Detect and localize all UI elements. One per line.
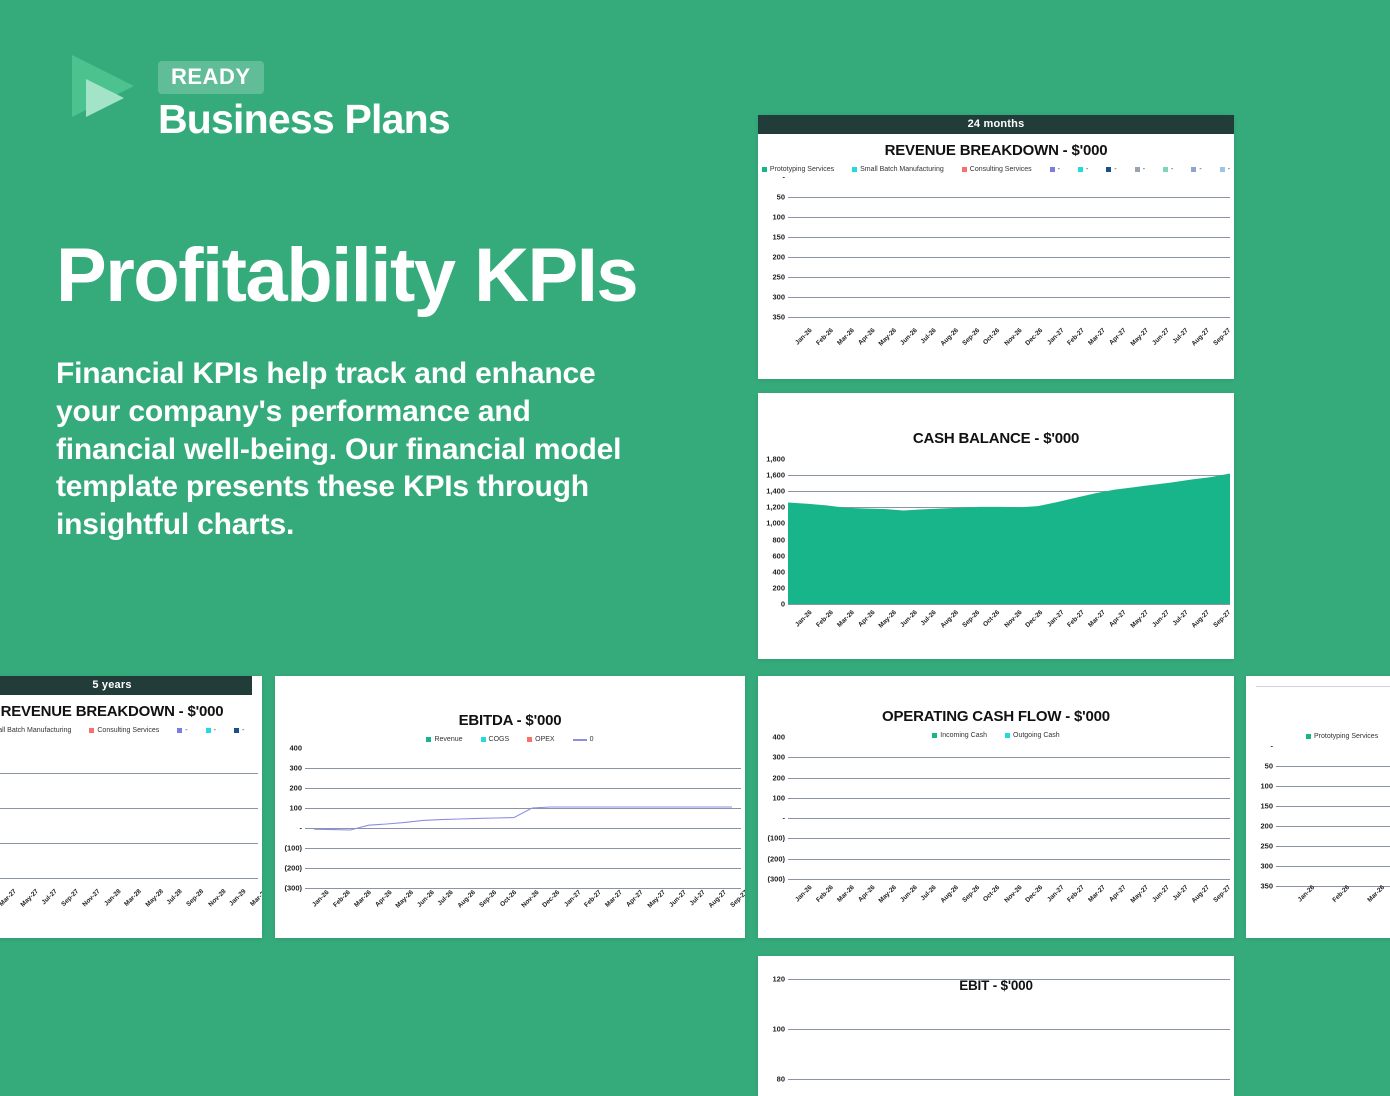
chart-legend: Small Batch ManufacturingConsulting Serv… [0,727,262,734]
x-tick-label: Mar-28 [124,888,144,908]
bar-column [1009,737,1027,879]
bar-column [991,737,1009,879]
y-tick-label: 100 [289,804,302,813]
bar-column [1175,177,1193,317]
y-tick-label: 800 [772,535,785,544]
bar-column [241,738,258,878]
legend-item-placeholder: - [206,727,216,734]
chart-title: OPERATING CASH FLOW - $'000 [758,708,1234,725]
x-tick-label: Jan-26 [794,884,814,904]
x-tick-label: Mar-26 [836,327,856,347]
x-tick-label: Jun-26 [899,327,919,347]
x-tick-label: Jul-26 [920,327,938,345]
x-tick-label: Jan-27 [1046,884,1066,904]
bar-column [108,738,125,878]
legend-swatch [426,737,431,742]
legend-swatch [1191,167,1196,172]
bar-column [880,177,898,317]
chart-plot-area: 400300200100-(100)(200)(300) [275,748,745,888]
bar-column [972,737,990,879]
bar-column [1175,737,1193,879]
bar-column [1046,979,1083,1079]
bar-column [1064,177,1082,317]
legend-item: OPEX [527,736,554,743]
bar-column [1193,979,1230,1079]
bar-column [175,738,192,878]
x-tick-label: Feb-27 [1066,609,1086,629]
x-tick-label: Mar-26 [836,884,856,904]
x-tick-label: Dec-26 [541,889,561,909]
legend-label: - [242,727,244,734]
bar-column [917,177,935,317]
hero-body-text: Financial KPIs help track and enhance yo… [56,355,656,544]
x-tick-label: Sep-27 [1213,884,1233,904]
legend-label: - [214,727,216,734]
x-tick-label: May-27 [646,889,667,910]
x-tick-label: Mar-27 [1087,327,1107,347]
bar-column [1083,979,1120,1079]
bar-column [1212,737,1230,879]
chart-x-axis: Jan-26Feb-26Mar-26Apr-26May- [1276,884,1390,891]
legend-label: - [1171,166,1173,173]
x-tick-label: Feb-26 [815,884,835,904]
bar-column [788,737,806,879]
y-tick-label: 400 [772,567,785,576]
bar-column [1120,177,1138,317]
legend-item-placeholder: - [1106,166,1116,173]
bar-column [899,737,917,879]
y-axis: 400300200100-(100)(200)(300) [275,748,305,888]
bar-column [1009,177,1027,317]
chart-plot-area: - [0,738,262,878]
y-tick-label: 300 [772,753,785,762]
legend-item: Prototyping Services [1306,733,1378,740]
x-tick-label: Mar-26 [836,609,856,629]
x-tick-label: Aug-27 [708,889,729,910]
y-tick-label: 50 [1265,762,1273,771]
y-tick-label: 1,600 [766,471,785,480]
x-tick-label: Apr-26 [857,327,877,347]
y-tick-label: 150 [1260,802,1273,811]
y-tick-label: (300) [767,875,785,884]
chart-band-label: 24 months [758,115,1234,134]
chart-card-ebitda: EBITDA - $'000 RevenueCOGSOPEX0 40030020… [275,676,745,938]
y-tick-label: 50 [777,193,785,202]
bar-series [788,979,1230,1079]
y-tick-label: 400 [289,744,302,753]
x-tick-label: May-27 [19,888,40,909]
x-tick-label: Mar-27 [0,888,18,908]
legend-swatch [89,728,94,733]
x-tick-label: Aug-26 [939,884,960,905]
x-tick-label: Mar-26 [353,889,373,909]
legend-label: - [1199,166,1201,173]
y-tick-label: - [300,824,303,833]
x-tick-label: Aug-26 [939,609,960,630]
x-tick-label: Aug-27 [1191,327,1212,348]
bar-column [0,738,9,878]
chart-plot-area: 400300200100-(100)(200)(300) [758,737,1234,879]
x-tick-label: Jul-27 [1171,609,1189,627]
y-tick-label: 250 [772,273,785,282]
x-tick-label: Sep-28 [185,888,205,908]
legend-swatch [206,728,211,733]
x-tick-label: Sep-26 [478,889,498,909]
legend-item-placeholder: - [1220,166,1230,173]
y-tick-label: 200 [289,784,302,793]
chart-x-axis: Jan-26Feb-26Mar-26Apr-26May-26Jun-26Jul-… [788,327,1230,334]
y-tick-label: 0 [781,600,785,609]
chart-title: REVENUE BREAKDOWN - $'000 [758,142,1234,159]
chart-card-revenue-breakdown-side: Prototyping Services -501001502002503003… [1246,676,1390,938]
x-tick-label: Jan-27 [563,889,583,909]
legend-label: 0 [590,736,594,743]
legend-label: Small Batch Manufacturing [860,166,944,173]
x-tick-label: Feb-27 [583,889,603,909]
bar-column [825,979,862,1079]
y-tick-label: 80 [777,1075,785,1084]
x-tick-label: Jul-27 [1171,327,1189,345]
chart-card-operating-cash-flow: OPERATING CASH FLOW - $'000 Incoming Cas… [758,676,1234,938]
bar-series [0,738,258,878]
y-tick-label: 200 [772,773,785,782]
x-tick-label: Mar-27 [604,889,624,909]
legend-label: - [1058,166,1060,173]
bar-column [1138,737,1156,879]
x-tick-label: May-27 [1129,884,1150,905]
bar-column [1120,737,1138,879]
chart-legend: RevenueCOGSOPEX0 [275,736,745,743]
y-tick-label: - [1271,742,1274,751]
x-tick-label: Nov-26 [1003,327,1023,347]
x-tick-label: May-26 [395,889,416,910]
bar-column [125,738,142,878]
legend-item: COGS [481,736,510,743]
bar-column [954,177,972,317]
x-tick-label: Nov-27 [81,888,101,908]
y-axis: 400300200100-(100)(200)(300) [758,737,788,879]
legend-item-placeholder: - [1163,166,1173,173]
legend-label: Prototyping Services [1314,733,1378,740]
legend-item-placeholder: - [234,727,244,734]
x-tick-label: Mar-27 [1087,884,1107,904]
bar-column [1083,177,1101,317]
x-tick-label: Jun-27 [1151,884,1171,904]
bar-column [788,177,806,317]
legend-label: OPEX [535,736,554,743]
area-series [788,459,1230,604]
bar-column [1046,737,1064,879]
chart-legend: Prototyping Services [1246,733,1390,740]
y-tick-label: 1,200 [766,503,785,512]
x-tick-label: Apr-26 [374,889,394,909]
y-tick-label: 1,800 [766,455,785,464]
x-tick-label: Jan-27 [1046,327,1066,347]
legend-label: Consulting Services [970,166,1032,173]
x-tick-label: Apr-27 [1108,884,1128,904]
bar-column [1009,979,1046,1079]
bar-column [1027,737,1045,879]
bar-column [1138,177,1156,317]
bar-column [972,979,1009,1079]
y-tick-label: 300 [1260,862,1273,871]
x-tick-label: Oct-26 [982,609,1001,628]
y-tick-label: 120 [772,975,785,984]
legend-swatch [1106,167,1111,172]
brand-wordmark: READY Business Plans [158,61,450,141]
bar-column [208,738,225,878]
brand-logo: READY Business Plans [72,55,450,141]
chart-title: REVENUE BREAKDOWN - $'000 [0,703,262,720]
x-tick-label: Apr-27 [1108,327,1128,347]
bar-column [862,979,899,1079]
chart-plot-area: -50100150200250300350 [1246,746,1390,886]
legend-item: Revenue [426,736,462,743]
x-tick-label: May-26 [878,609,899,630]
bar-column [192,738,209,878]
legend-label: - [1228,166,1230,173]
chart-band-label: 5 years [0,676,252,695]
y-tick-label: (300) [284,884,302,893]
x-tick-label: Jan-26 [794,327,814,347]
legend-item: Consulting Services [962,166,1032,173]
x-tick-label: Jul-26 [920,884,938,902]
x-tick-label: Apr-26 [857,609,877,629]
chart-x-axis: Mar-27May-27Jul-27Sep-27Nov-27Jan-28Mar-… [0,888,258,895]
bar-column [1101,177,1119,317]
bar-column [991,177,1009,317]
chart-plot-area: -50100150200250300350 [758,177,1234,317]
x-tick-label: Dec-26 [1024,884,1044,904]
y-tick-label: 200 [772,583,785,592]
page-title: Profitability KPIs [56,238,637,314]
y-tick-label: (200) [767,854,785,863]
x-tick-label: Jun-26 [899,884,919,904]
bar-column [935,979,972,1079]
bar-column [843,177,861,317]
bar-column [806,737,824,879]
bar-column [917,737,935,879]
y-tick-label: 400 [772,733,785,742]
legend-swatch [1078,167,1083,172]
bar-column [1346,746,1381,886]
y-axis: 1,8001,6001,4001,2001,0008006004002000 [758,459,788,604]
x-tick-label: Aug-26 [456,889,477,910]
legend-item-placeholder: - [1135,166,1145,173]
legend-swatch [234,728,239,733]
x-tick-label: Jun-26 [416,889,436,909]
x-tick-label: Jun-26 [899,609,919,629]
x-tick-label: Jul-27 [41,888,59,906]
x-tick-label: Sep-27 [60,888,80,908]
legend-label: - [185,727,187,734]
legend-swatch [1220,167,1225,172]
x-tick-label: Feb-26 [815,327,835,347]
x-tick-label: Jan-26 [794,609,814,629]
y-tick-label: 200 [1260,822,1273,831]
bar-column [880,737,898,879]
zero-line-series [305,748,741,888]
x-tick-label: Jun-27 [668,889,688,909]
x-tick-label: May-27 [1129,327,1150,348]
x-tick-label: Feb-27 [1066,884,1086,904]
y-tick-label: 1,400 [766,487,785,496]
legend-swatch [573,739,587,741]
x-tick-label: Dec-26 [1024,609,1044,629]
y-tick-label: (100) [284,844,302,853]
y-tick-label: (200) [284,864,302,873]
bar-column [898,979,935,1079]
legend-label: - [1086,166,1088,173]
y-axis: -50100150200250300350 [758,177,788,317]
brand-name: Business Plans [158,98,450,141]
y-tick-label: - [783,814,786,823]
bar-column [954,737,972,879]
bar-column [1083,737,1101,879]
y-tick-label: 150 [772,233,785,242]
bar-column [806,177,824,317]
x-tick-label: Jul-28 [166,888,184,906]
x-tick-label: Mar-29 [249,888,262,908]
legend-swatch [762,167,767,172]
legend-swatch [177,728,182,733]
chart-card-revenue-breakdown-24m: 24 months REVENUE BREAKDOWN - $'000 Prot… [758,115,1234,379]
legend-item: Consulting Services [89,727,159,734]
bar-column [1382,746,1390,886]
legend-swatch [1306,734,1311,739]
bar-column [9,738,26,878]
chart-title: CASH BALANCE - $'000 [758,430,1234,447]
bar-column [142,738,159,878]
x-tick-label: Jan-26 [1286,884,1316,914]
legend-item: Small Batch Manufacturing [0,727,71,734]
x-tick-label: Apr-26 [857,884,877,904]
bar-column [1276,746,1311,886]
y-tick-label: 100 [772,213,785,222]
legend-label: Prototyping Services [770,166,834,173]
bar-column [935,177,953,317]
legend-label: Small Batch Manufacturing [0,727,71,734]
x-tick-label: Oct-26 [982,884,1001,903]
bar-column [92,738,109,878]
x-tick-label: Dec-26 [1024,327,1044,347]
legend-item: Prototyping Services [762,166,834,173]
x-tick-label: Jan-29 [228,888,248,908]
x-tick-label: Oct-26 [982,327,1001,346]
bar-column [1156,979,1193,1079]
y-tick-label: 200 [772,253,785,262]
x-tick-label: Apr-27 [1108,609,1128,629]
legend-swatch [1163,167,1168,172]
x-tick-label: Feb-26 [1322,884,1352,914]
y-tick-label: 600 [772,551,785,560]
bar-column [862,177,880,317]
bar-column [825,737,843,879]
x-tick-label: Jun-27 [1151,609,1171,629]
x-tick-label: Jan-26 [311,889,331,909]
bar-column [1193,737,1211,879]
bar-series [1276,746,1390,886]
chart-plot-area: 1,8001,6001,4001,2001,0008006004002000 [758,459,1234,604]
x-tick-label: May-26 [878,884,899,905]
x-tick-label: Nov-26 [1003,609,1023,629]
bar-column [862,737,880,879]
x-tick-label: Feb-26 [332,889,352,909]
x-tick-label: Sep-26 [961,609,981,629]
y-tick-label: 350 [1260,882,1273,891]
bar-column [1027,177,1045,317]
chart-legend: Prototyping ServicesSmall Batch Manufact… [758,166,1234,173]
bar-column [1046,177,1064,317]
chart-card-ebit: EBIT - $'000 12010080 [758,956,1234,1096]
legend-label: Revenue [434,736,462,743]
x-tick-label: Jan-27 [1046,609,1066,629]
legend-item-placeholder: - [177,727,187,734]
x-tick-label: Nov-28 [207,888,227,908]
x-tick-label: Sep-27 [1213,327,1233,347]
bar-column [225,738,242,878]
y-tick-label: 100 [1260,782,1273,791]
bar-column [972,177,990,317]
legend-swatch [481,737,486,742]
legend-item-placeholder: - [1078,166,1088,173]
y-tick-label: 100 [772,1025,785,1034]
legend-item-placeholder: - [1050,166,1060,173]
y-tick-label: 100 [772,793,785,802]
legend-item-placeholder: - [1191,166,1201,173]
bar-column [25,738,42,878]
x-tick-label: Nov-26 [1003,884,1023,904]
x-tick-label: Jan-28 [103,888,123,908]
legend-label: - [1114,166,1116,173]
x-tick-label: Mar-27 [1087,609,1107,629]
y-axis: 12010080 [758,979,788,1079]
play-triangle-icon [72,55,144,117]
y-tick-label: 1,000 [766,519,785,528]
bar-column [1193,177,1211,317]
y-tick-label: (100) [767,834,785,843]
bar-series [788,177,1230,317]
bar-column [42,738,59,878]
x-tick-label: Jul-27 [1171,884,1189,902]
x-tick-label: Sep-27 [1213,609,1233,629]
x-tick-label: Jun-27 [1151,327,1171,347]
x-tick-label: Nov-26 [520,889,540,909]
x-tick-label: Oct-26 [499,889,518,908]
x-tick-label: May-26 [878,327,899,348]
bar-column [1156,737,1174,879]
y-tick-label: 300 [289,764,302,773]
bar-column [1064,737,1082,879]
y-tick-label: - [783,173,786,182]
legend-swatch [527,737,532,742]
x-tick-label: Sep-26 [961,327,981,347]
legend-swatch [852,167,857,172]
x-tick-label: Jul-26 [437,889,455,907]
chart-x-axis: Jan-26Feb-26Mar-26Apr-26May-26Jun-26Jul-… [788,609,1230,616]
x-tick-label: Jul-26 [920,609,938,627]
x-tick-label: May-27 [1129,609,1150,630]
ready-badge: READY [158,61,264,94]
chart-title: EBITDA - $'000 [275,712,745,729]
y-tick-label: 350 [772,313,785,322]
x-tick-label: Sep-26 [961,884,981,904]
chart-plot-area: 12010080 [758,979,1234,1079]
x-tick-label: Aug-27 [1191,609,1212,630]
legend-item: Small Batch Manufacturing [852,166,944,173]
x-tick-label: Apr-27 [625,889,645,909]
bar-column [1119,979,1156,1079]
